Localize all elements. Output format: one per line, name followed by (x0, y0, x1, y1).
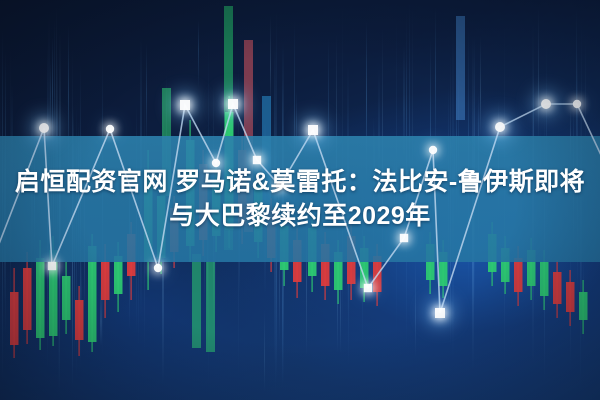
banner-image: 启恒配资官网 罗马诺&莫雷托：法比安-鲁伊斯即将 与大巴黎续约至2029年 (0, 0, 600, 400)
vignette (0, 0, 600, 400)
